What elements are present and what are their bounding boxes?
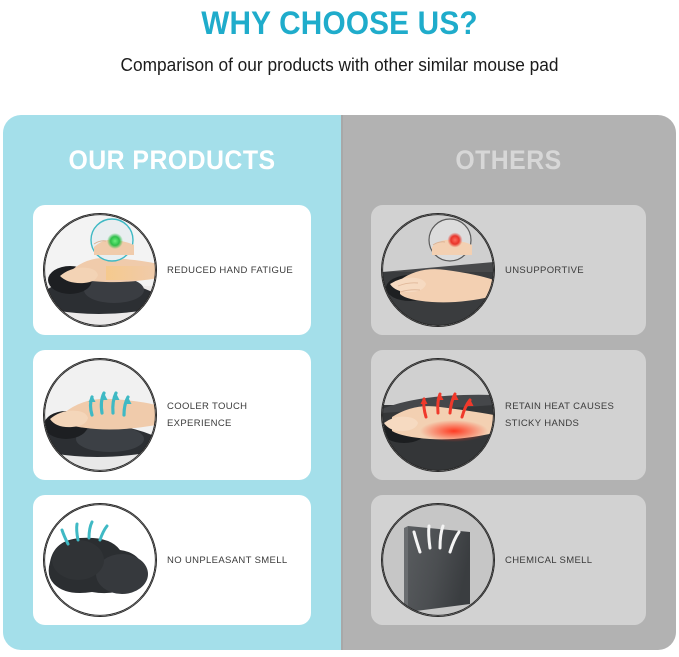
page-subtitle: Comparison of our products with other si… [14, 52, 666, 78]
card-label-line1: COOLER TOUCH [167, 398, 247, 415]
mousepad-clean-vapor-photo-icon [43, 503, 157, 617]
hand-flat-pad-photo-icon [381, 213, 495, 327]
column-others: OTHERS [341, 115, 676, 650]
card-label-line1: RETAIN HEAT CAUSES [505, 398, 614, 415]
comparison-panel: OUR PRODUCTS [3, 115, 676, 650]
card-no-unpleasant-smell[interactable]: NO UNPLEASANT SMELL [33, 495, 311, 625]
card-retain-heat-sticky-hands[interactable]: RETAIN HEAT CAUSES STICKY HANDS [371, 350, 646, 480]
hand-heat-photo-icon [381, 358, 495, 472]
column-our-products: OUR PRODUCTS [3, 115, 341, 650]
card-chemical-smell[interactable]: CHEMICAL SMELL [371, 495, 646, 625]
card-label-line2: EXPERIENCE [167, 415, 247, 432]
column-header-our-products: OUR PRODUCTS [17, 115, 328, 189]
column-divider [341, 115, 343, 650]
card-label: UNSUPPORTIVE [505, 262, 584, 279]
card-label: COOLER TOUCH EXPERIENCE [167, 398, 247, 432]
card-label-line2: STICKY HANDS [505, 415, 614, 432]
card-cooler-touch-experience[interactable]: COOLER TOUCH EXPERIENCE [33, 350, 311, 480]
card-unsupportive[interactable]: UNSUPPORTIVE [371, 205, 646, 335]
card-label: CHEMICAL SMELL [505, 552, 592, 569]
page-header: WHY CHOOSE US? Comparison of our product… [0, 0, 679, 78]
card-reduced-hand-fatigue[interactable]: REDUCED HAND FATIGUE [33, 205, 311, 335]
card-label: RETAIN HEAT CAUSES STICKY HANDS [505, 398, 614, 432]
card-label: REDUCED HAND FATIGUE [167, 262, 293, 279]
hand-on-wrist-rest-photo-icon [43, 213, 157, 327]
card-list-others: UNSUPPORTIVE [341, 189, 676, 625]
flat-pad-fumes-photo-icon [381, 503, 495, 617]
page-title: WHY CHOOSE US? [24, 4, 655, 42]
card-label: NO UNPLEASANT SMELL [167, 552, 288, 569]
card-list-our-products: REDUCED HAND FATIGUE [3, 189, 341, 625]
column-header-others: OTHERS [354, 115, 662, 189]
hand-cool-airflow-photo-icon [43, 358, 157, 472]
